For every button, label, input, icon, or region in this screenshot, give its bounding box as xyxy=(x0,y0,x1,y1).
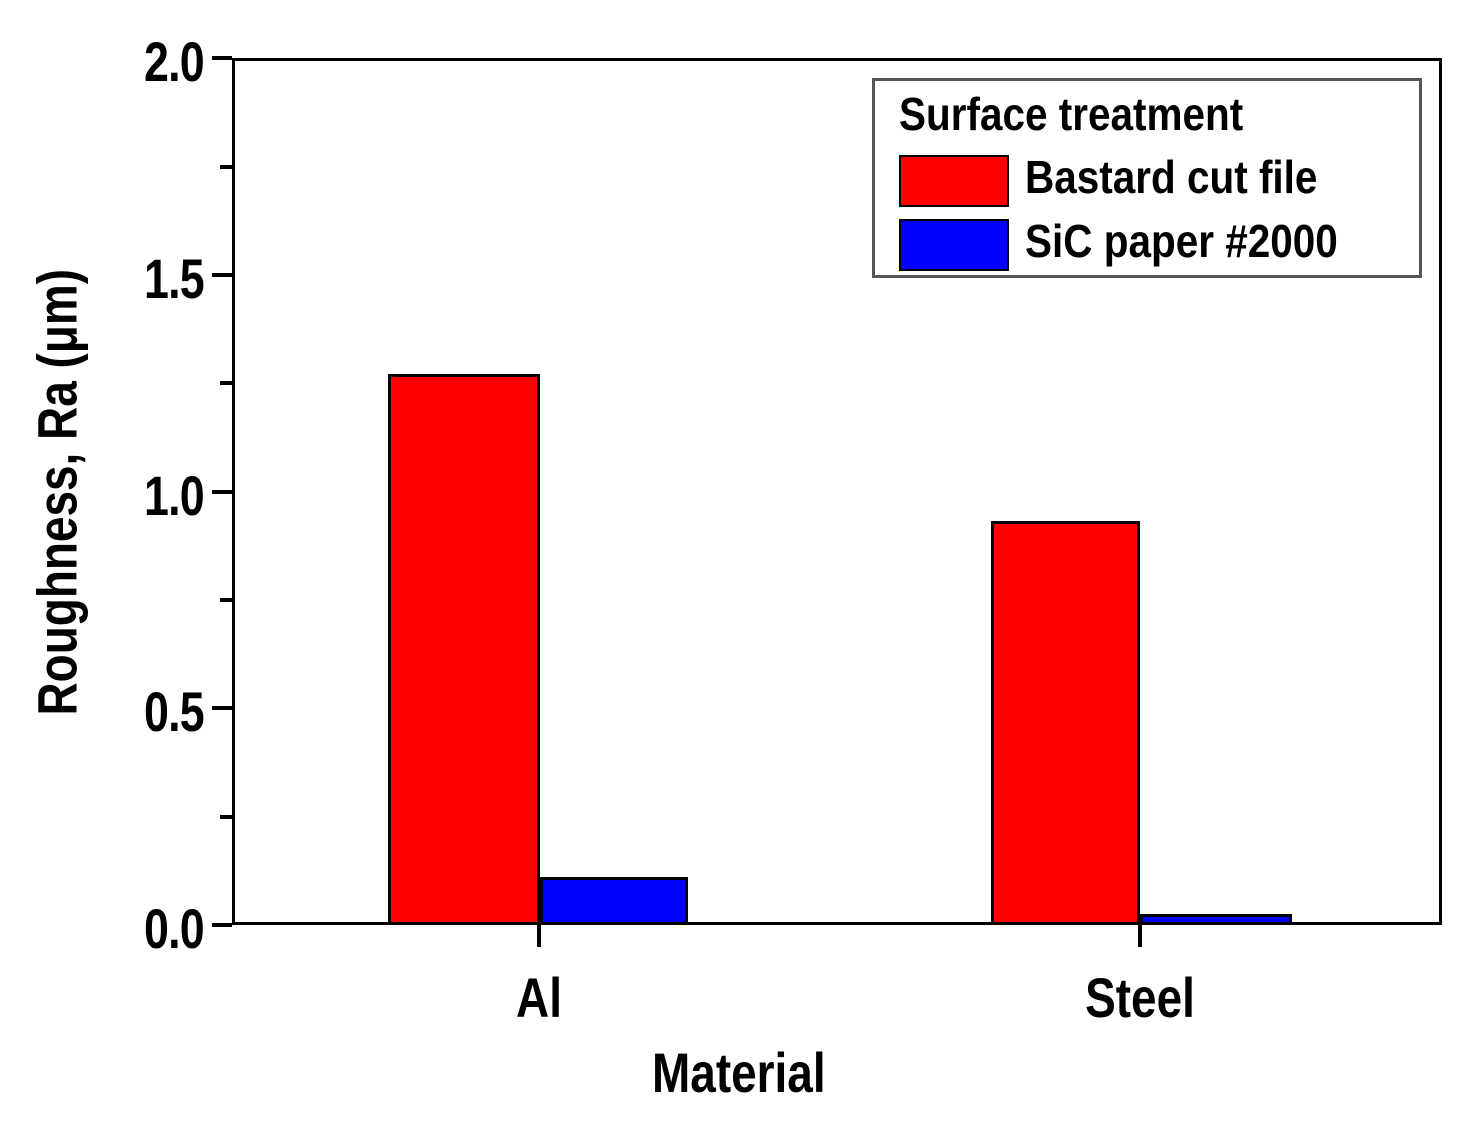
x-tick xyxy=(537,925,541,947)
x-tick-label: Al xyxy=(516,965,562,1030)
bar-al-bastard-cut-file xyxy=(388,374,540,925)
y-tick-label: 0.5 xyxy=(144,679,204,744)
y-tick-major xyxy=(212,273,232,277)
y-tick-major xyxy=(212,706,232,710)
bar-steel-bastard-cut-file xyxy=(991,521,1140,925)
y-tick-label: 2.0 xyxy=(144,29,204,94)
y-tick-label: 1.0 xyxy=(144,463,204,528)
x-axis-title-text: Material xyxy=(652,1040,826,1105)
y-tick-minor xyxy=(220,381,232,385)
y-axis-title-text: Roughness, Ra (μm) xyxy=(25,269,90,716)
y-tick-major xyxy=(212,56,232,60)
legend-label: SiC paper #2000 xyxy=(1025,214,1338,268)
y-tick-label: 1.5 xyxy=(144,246,204,311)
chart-figure: 0.0 0.5 1.0 1.5 2.0 Al Steel Material Ro… xyxy=(0,0,1477,1124)
x-tick-label: Steel xyxy=(1085,965,1195,1030)
y-tick-major xyxy=(212,490,232,494)
y-tick-label: 0.0 xyxy=(144,896,204,961)
y-tick-minor xyxy=(220,815,232,819)
legend-box: Surface treatment Bastard cut file SiC p… xyxy=(872,78,1422,278)
y-tick-minor xyxy=(220,598,232,602)
x-axis-title: Material xyxy=(0,1040,1477,1105)
x-tick xyxy=(1138,925,1142,947)
legend-title: Surface treatment xyxy=(899,87,1243,141)
bar-steel-sic-paper xyxy=(1140,914,1292,925)
y-tick-minor xyxy=(220,165,232,169)
y-tick-major xyxy=(212,923,232,927)
y-axis-title: Roughness, Ra (μm) xyxy=(25,63,90,923)
legend-label: Bastard cut file xyxy=(1025,150,1317,204)
legend-swatch-red xyxy=(899,155,1009,207)
bar-al-sic-paper xyxy=(540,877,688,925)
legend-swatch-blue xyxy=(899,219,1009,271)
